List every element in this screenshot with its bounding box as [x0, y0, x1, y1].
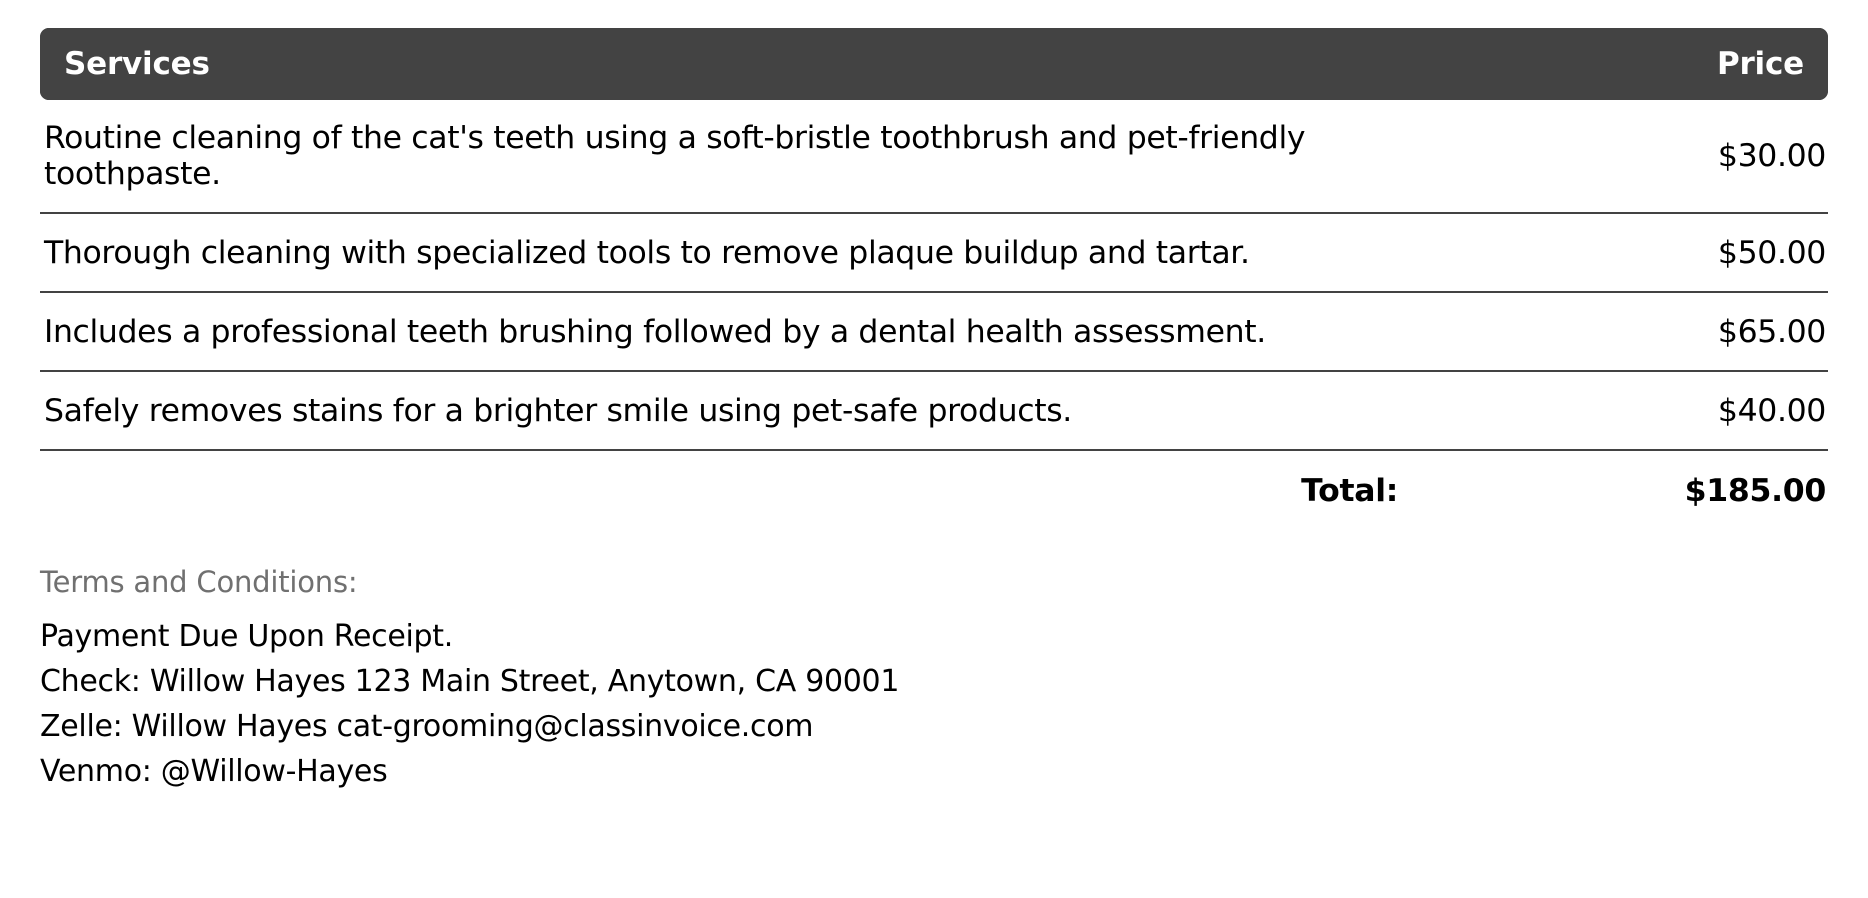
terms-line-check: Check: Willow Hayes 123 Main Street, Any…: [40, 659, 1828, 704]
service-price: $40.00: [1450, 371, 1828, 450]
total-amount: $185.00: [1450, 450, 1828, 519]
invoice-services-section: Services Price Routine cleaning of the c…: [0, 28, 1868, 898]
service-description: Thorough cleaning with specialized tools…: [40, 213, 1450, 292]
service-description: Safely removes stains for a brighter smi…: [40, 371, 1450, 450]
column-header-price: Price: [1450, 28, 1828, 100]
table-row: Thorough cleaning with specialized tools…: [40, 213, 1828, 292]
table-row: Routine cleaning of the cat's teeth usin…: [40, 100, 1828, 213]
service-price: $30.00: [1450, 100, 1828, 213]
terms-line-zelle: Zelle: Willow Hayes cat-grooming@classin…: [40, 704, 1828, 749]
table-foot: Total: $185.00: [40, 450, 1828, 519]
terms-line-payment-due: Payment Due Upon Receipt.: [40, 614, 1828, 659]
service-description: Includes a professional teeth brushing f…: [40, 292, 1450, 371]
total-row: Total: $185.00: [40, 450, 1828, 519]
services-price-table: Services Price Routine cleaning of the c…: [40, 28, 1828, 519]
terms-line-venmo: Venmo: @Willow-Hayes: [40, 749, 1828, 794]
terms-title: Terms and Conditions:: [40, 565, 1828, 599]
total-label: Total:: [40, 450, 1450, 519]
table-row: Includes a professional teeth brushing f…: [40, 292, 1828, 371]
table-body: Routine cleaning of the cat's teeth usin…: [40, 100, 1828, 450]
table-head: Services Price: [40, 28, 1828, 100]
table-row: Safely removes stains for a brighter smi…: [40, 371, 1828, 450]
service-description: Routine cleaning of the cat's teeth usin…: [40, 100, 1450, 213]
column-header-services: Services: [40, 28, 1450, 100]
terms-and-conditions-block: Terms and Conditions: Payment Due Upon R…: [40, 565, 1828, 794]
table-header-row: Services Price: [40, 28, 1828, 100]
service-price: $50.00: [1450, 213, 1828, 292]
service-price: $65.00: [1450, 292, 1828, 371]
